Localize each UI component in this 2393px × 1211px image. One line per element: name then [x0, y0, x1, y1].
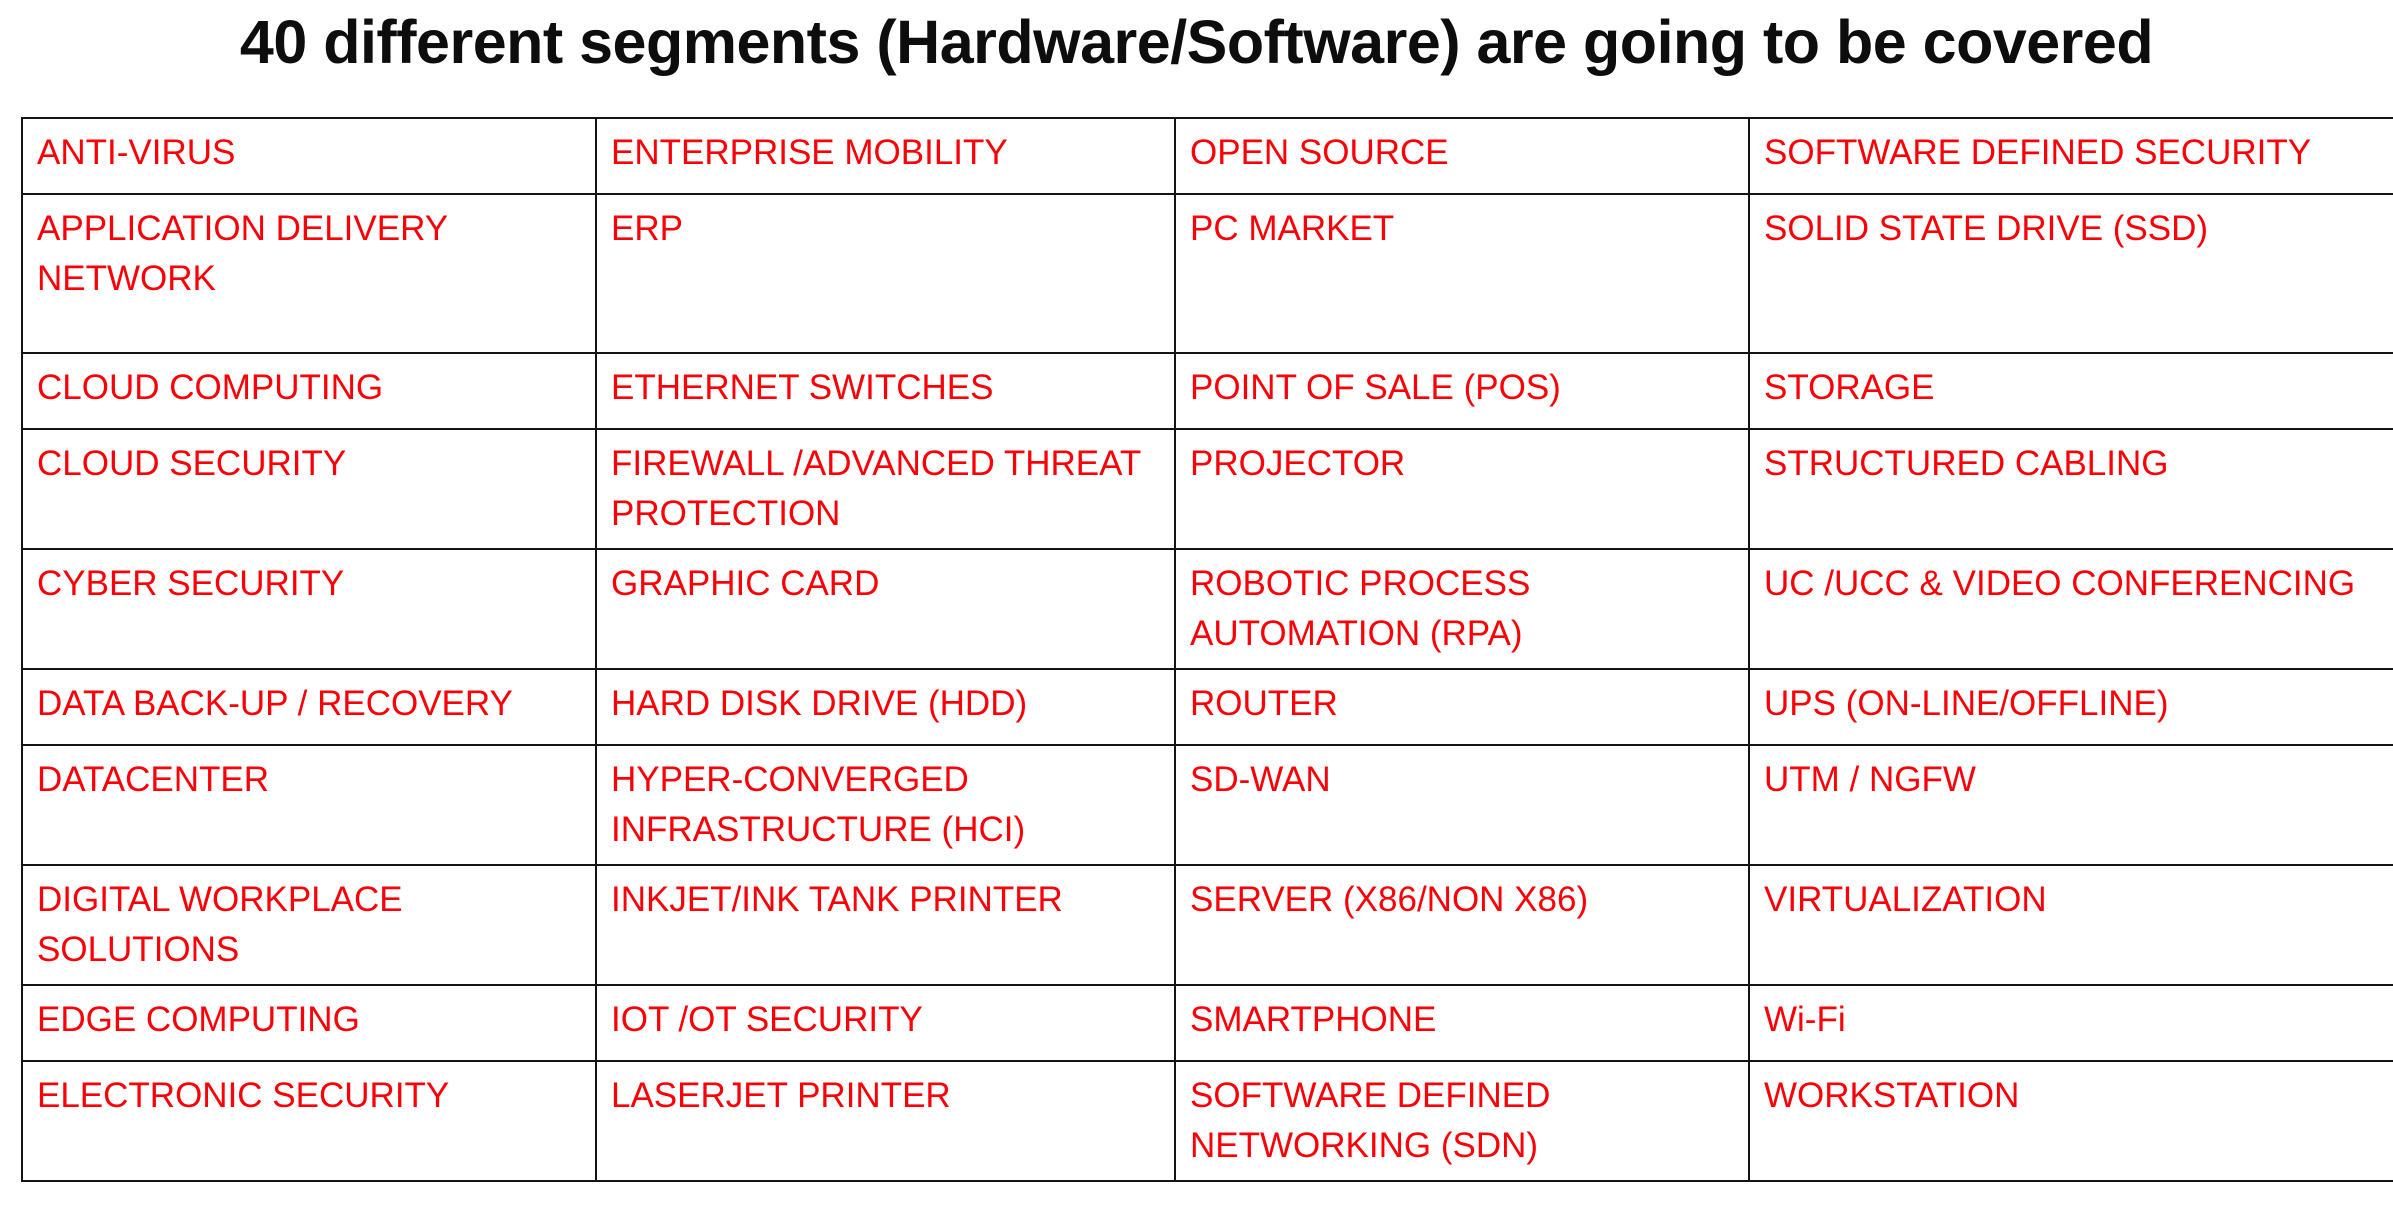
- segment-label: ERP: [611, 204, 1162, 254]
- table-cell-r8c1: DIGITAL WORKPLACE SOLUTIONS: [22, 865, 596, 985]
- segment-label: POINT OF SALE (POS): [1190, 363, 1736, 413]
- table-cell-r1c1: ANTI-VIRUS: [22, 118, 596, 194]
- table-cell-r4c4: STRUCTURED CABLING: [1749, 429, 2393, 549]
- segment-label: VIRTUALIZATION: [1764, 875, 2393, 925]
- table-row: CYBER SECURITY GRAPHIC CARD ROBOTIC PROC…: [22, 549, 2393, 669]
- slide-canvas: 40 different segments (Hardware/Software…: [0, 0, 2393, 1211]
- table-cell-r7c4: UTM / NGFW: [1749, 745, 2393, 865]
- table-cell-r6c4: UPS (ON-LINE/OFFLINE): [1749, 669, 2393, 745]
- table-cell-r8c2: INKJET/INK TANK PRINTER: [596, 865, 1175, 985]
- segment-label: SOLID STATE DRIVE (SSD): [1764, 204, 2393, 254]
- table-cell-r6c1: DATA BACK-UP / RECOVERY: [22, 669, 596, 745]
- segment-label: SOFTWARE DEFINED NETWORKING (SDN): [1190, 1071, 1736, 1171]
- table-cell-r10c1: ELECTRONIC SECURITY: [22, 1061, 596, 1181]
- segment-label: SOFTWARE DEFINED SECURITY: [1764, 128, 2393, 178]
- page-title: 40 different segments (Hardware/Software…: [0, 6, 2393, 78]
- segment-label: OPEN SOURCE: [1190, 128, 1736, 178]
- segment-label: ANTI-VIRUS: [37, 128, 583, 178]
- table-row: CLOUD SECURITY FIREWALL /ADVANCED THREAT…: [22, 429, 2393, 549]
- segment-label: INKJET/INK TANK PRINTER: [611, 875, 1162, 925]
- segment-label: CLOUD SECURITY: [37, 439, 583, 489]
- table-cell-r2c4: SOLID STATE DRIVE (SSD): [1749, 194, 2393, 353]
- segment-label: EDGE COMPUTING: [37, 995, 583, 1045]
- table-row: APPLICATION DELIVERY NETWORK ERP PC MARK…: [22, 194, 2393, 353]
- segment-label: HYPER-CONVERGED INFRASTRUCTURE (HCI): [611, 755, 1162, 855]
- segment-label: FIREWALL /ADVANCED THREAT PROTECTION: [611, 439, 1162, 539]
- table-cell-r8c3: SERVER (X86/NON X86): [1175, 865, 1749, 985]
- table-cell-r10c3: SOFTWARE DEFINED NETWORKING (SDN): [1175, 1061, 1749, 1181]
- table-cell-r4c1: CLOUD SECURITY: [22, 429, 596, 549]
- table-cell-r5c3: ROBOTIC PROCESS AUTOMATION (RPA): [1175, 549, 1749, 669]
- table-cell-r7c3: SD-WAN: [1175, 745, 1749, 865]
- table-cell-r9c4: Wi-Fi: [1749, 985, 2393, 1061]
- segments-table: ANTI-VIRUS ENTERPRISE MOBILITY OPEN SOUR…: [21, 117, 2393, 1182]
- table-row: ELECTRONIC SECURITY LASERJET PRINTER SOF…: [22, 1061, 2393, 1181]
- table-cell-r2c2: ERP: [596, 194, 1175, 353]
- segment-label: ROBOTIC PROCESS AUTOMATION (RPA): [1190, 559, 1736, 659]
- table-row: DATACENTER HYPER-CONVERGED INFRASTRUCTUR…: [22, 745, 2393, 865]
- segment-label: PROJECTOR: [1190, 439, 1736, 489]
- segment-label: WORKSTATION: [1764, 1071, 2393, 1121]
- segments-table-body: ANTI-VIRUS ENTERPRISE MOBILITY OPEN SOUR…: [22, 118, 2393, 1181]
- table-row: EDGE COMPUTING IOT /OT SECURITY SMARTPHO…: [22, 985, 2393, 1061]
- table-cell-r3c1: CLOUD COMPUTING: [22, 353, 596, 429]
- table-cell-r9c3: SMARTPHONE: [1175, 985, 1749, 1061]
- segment-label: CLOUD COMPUTING: [37, 363, 583, 413]
- segment-label: LASERJET PRINTER: [611, 1071, 1162, 1121]
- segment-label: SMARTPHONE: [1190, 995, 1736, 1045]
- table-cell-r4c2: FIREWALL /ADVANCED THREAT PROTECTION: [596, 429, 1175, 549]
- table-cell-r10c2: LASERJET PRINTER: [596, 1061, 1175, 1181]
- table-cell-r9c2: IOT /OT SECURITY: [596, 985, 1175, 1061]
- segment-label: DIGITAL WORKPLACE SOLUTIONS: [37, 875, 583, 975]
- table-row: DIGITAL WORKPLACE SOLUTIONS INKJET/INK T…: [22, 865, 2393, 985]
- segment-label: DATACENTER: [37, 755, 583, 805]
- table-cell-r1c4: SOFTWARE DEFINED SECURITY: [1749, 118, 2393, 194]
- table-cell-r5c1: CYBER SECURITY: [22, 549, 596, 669]
- segment-label: STORAGE: [1764, 363, 2393, 413]
- segment-label: DATA BACK-UP / RECOVERY: [37, 679, 583, 729]
- segment-label: ELECTRONIC SECURITY: [37, 1071, 583, 1121]
- segment-label: UC /UCC & VIDEO CONFERENCING: [1764, 559, 2393, 609]
- table-cell-r3c3: POINT OF SALE (POS): [1175, 353, 1749, 429]
- segment-label: STRUCTURED CABLING: [1764, 439, 2393, 489]
- segment-label: APPLICATION DELIVERY NETWORK: [37, 204, 583, 304]
- table-cell-r2c1: APPLICATION DELIVERY NETWORK: [22, 194, 596, 353]
- segment-label: CYBER SECURITY: [37, 559, 583, 609]
- table-cell-r7c2: HYPER-CONVERGED INFRASTRUCTURE (HCI): [596, 745, 1175, 865]
- table-cell-r3c4: STORAGE: [1749, 353, 2393, 429]
- table-cell-r5c4: UC /UCC & VIDEO CONFERENCING: [1749, 549, 2393, 669]
- table-cell-r8c4: VIRTUALIZATION: [1749, 865, 2393, 985]
- table-cell-r7c1: DATACENTER: [22, 745, 596, 865]
- table-cell-r6c2: HARD DISK DRIVE (HDD): [596, 669, 1175, 745]
- table-cell-r10c4: WORKSTATION: [1749, 1061, 2393, 1181]
- segment-label: Wi-Fi: [1764, 995, 2393, 1045]
- segment-label: UTM / NGFW: [1764, 755, 2393, 805]
- segment-label: HARD DISK DRIVE (HDD): [611, 679, 1162, 729]
- table-row: DATA BACK-UP / RECOVERY HARD DISK DRIVE …: [22, 669, 2393, 745]
- table-cell-r6c3: ROUTER: [1175, 669, 1749, 745]
- segment-label: PC MARKET: [1190, 204, 1736, 254]
- segment-label: ENTERPRISE MOBILITY: [611, 128, 1162, 178]
- table-cell-r1c3: OPEN SOURCE: [1175, 118, 1749, 194]
- table-cell-r5c2: GRAPHIC CARD: [596, 549, 1175, 669]
- table-cell-r4c3: PROJECTOR: [1175, 429, 1749, 549]
- table-row: ANTI-VIRUS ENTERPRISE MOBILITY OPEN SOUR…: [22, 118, 2393, 194]
- segment-label: SD-WAN: [1190, 755, 1736, 805]
- segment-label: SERVER (X86/NON X86): [1190, 875, 1736, 925]
- table-cell-r3c2: ETHERNET SWITCHES: [596, 353, 1175, 429]
- table-cell-r1c2: ENTERPRISE MOBILITY: [596, 118, 1175, 194]
- segment-label: ETHERNET SWITCHES: [611, 363, 1162, 413]
- table-row: CLOUD COMPUTING ETHERNET SWITCHES POINT …: [22, 353, 2393, 429]
- table-cell-r9c1: EDGE COMPUTING: [22, 985, 596, 1061]
- segment-label: UPS (ON-LINE/OFFLINE): [1764, 679, 2393, 729]
- segment-label: IOT /OT SECURITY: [611, 995, 1162, 1045]
- segment-label: GRAPHIC CARD: [611, 559, 1162, 609]
- table-cell-r2c3: PC MARKET: [1175, 194, 1749, 353]
- segment-label: ROUTER: [1190, 679, 1736, 729]
